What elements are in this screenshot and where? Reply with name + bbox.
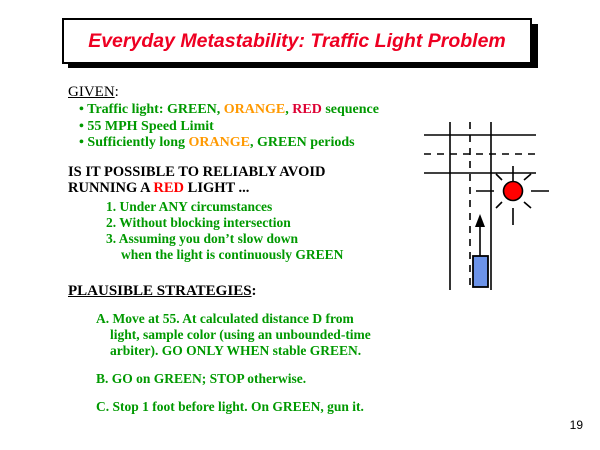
given-heading-colon: : <box>115 84 119 100</box>
bullet-icon: • <box>79 135 84 150</box>
question-line-2-prefix: RUNNING A <box>68 180 153 196</box>
list-item: A. Move at 55. At calculated distance D … <box>96 311 418 359</box>
list-item-number: 3. <box>106 231 116 246</box>
given-heading: GIVEN: <box>68 84 418 101</box>
strategies-list: A. Move at 55. At calculated distance D … <box>68 311 418 415</box>
list-item-label: Assuming you don’t slow down <box>119 231 298 246</box>
direction-arrow-icon <box>475 214 485 256</box>
given-heading-label: GIVEN <box>68 84 115 100</box>
car-icon <box>473 256 488 287</box>
slide-content: GIVEN: • Traffic light: GREEN, ORANGE, R… <box>68 84 418 427</box>
bullet-text-segment: 55 MPH Speed Limit <box>87 119 213 134</box>
question-numbered-list: 1. Under ANY circumstances 2. Without bl… <box>68 199 418 263</box>
strategy-line-1: B. GO on GREEN; STOP otherwise. <box>96 371 306 386</box>
list-item-number: 2. <box>106 215 116 230</box>
strategies-heading: PLAUSIBLE STRATEGIES: <box>68 283 418 300</box>
list-item: 3. Assuming you don’t slow down <box>106 231 418 247</box>
question-line-2-suffix: LIGHT ... <box>184 180 249 196</box>
strategy-line-1: A. Move at 55. At calculated distance D … <box>96 311 354 326</box>
strategies-heading-label: PLAUSIBLE STRATEGIES <box>68 283 252 299</box>
bullet-text-green: GREEN <box>167 102 217 117</box>
bullet-text-segment: Traffic light: <box>87 102 167 117</box>
strategy-line-1: C. Stop 1 foot before light. On GREEN, g… <box>96 399 364 414</box>
question-line-1: IS IT POSSIBLE TO RELIABLY AVOID <box>68 164 418 181</box>
bullet-icon: • <box>79 102 84 117</box>
bullet-text-segment: , <box>250 135 257 150</box>
question-line-2: RUNNING A RED LIGHT ... <box>68 180 418 197</box>
list-item: B. GO on GREEN; STOP otherwise. <box>96 371 418 387</box>
traffic-intersection-diagram <box>418 108 588 303</box>
list-item: 2. Without blocking intersection <box>106 215 418 231</box>
bullet-text-red: RED <box>292 102 322 117</box>
list-item-label: Without blocking intersection <box>119 215 291 230</box>
strategies-heading-colon: : <box>252 283 257 299</box>
list-item: C. Stop 1 foot before light. On GREEN, g… <box>96 399 418 415</box>
bullet-text-orange: ORANGE <box>224 102 285 117</box>
page-number: 19 <box>570 418 583 432</box>
list-item-number: 1. <box>106 199 116 214</box>
list-item-label: Under ANY circumstances <box>120 199 273 214</box>
slide-title: Everyday Metastability: Traffic Light Pr… <box>88 30 506 53</box>
bullet-text-segment: , <box>217 102 224 117</box>
bullet-text-segment: periods <box>307 135 355 150</box>
list-item-continuation: when the light is continuously GREEN <box>106 247 418 263</box>
strategy-line-2: light, sample color (using an unbounded-… <box>96 327 418 343</box>
bullet-text-segment: Sufficiently long <box>87 135 188 150</box>
list-item: • 55 MPH Speed Limit <box>79 119 418 136</box>
ray-northwest <box>496 174 502 180</box>
list-item: 1. Under ANY circumstances <box>106 199 418 215</box>
ray-southwest <box>496 202 502 208</box>
list-item: • Sufficiently long ORANGE, GREEN period… <box>79 135 418 152</box>
bullet-text-segment: sequence <box>322 102 379 117</box>
list-item: • Traffic light: GREEN, ORANGE, RED sequ… <box>79 102 418 119</box>
bullet-icon: • <box>79 119 84 134</box>
strategy-line-3: arbiter). GO ONLY WHEN stable GREEN. <box>96 343 418 359</box>
given-bullet-list: • Traffic light: GREEN, ORANGE, RED sequ… <box>68 102 418 152</box>
question-block: IS IT POSSIBLE TO RELIABLY AVOID RUNNING… <box>68 164 418 263</box>
title-box: Everyday Metastability: Traffic Light Pr… <box>62 18 532 64</box>
ray-northeast <box>524 174 531 180</box>
ray-southeast <box>524 202 531 208</box>
bullet-text-green: GREEN <box>257 135 307 150</box>
bullet-text-orange: ORANGE <box>189 135 250 150</box>
traffic-light-red-lamp <box>504 182 523 201</box>
question-red-word: RED <box>153 180 184 196</box>
